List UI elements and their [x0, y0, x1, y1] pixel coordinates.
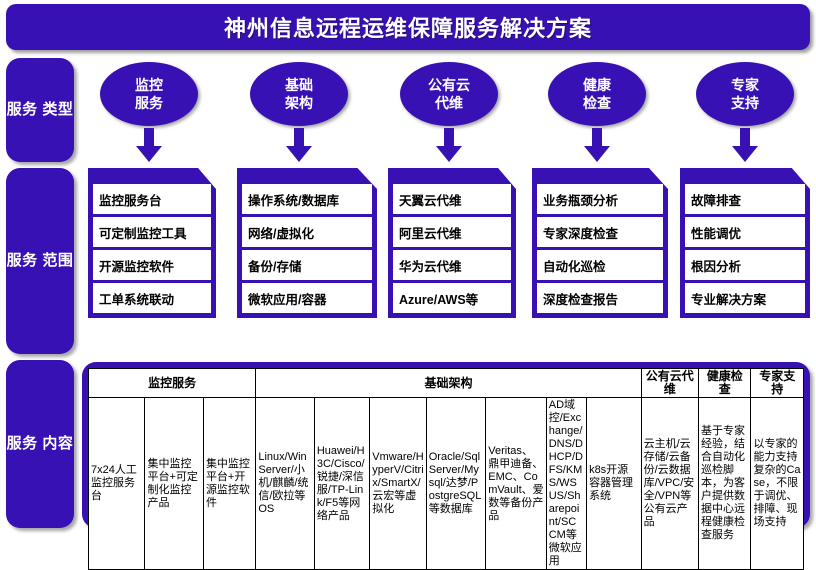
ellipse-line1: 健康 [583, 77, 611, 93]
table-group-header-row: 监控服务 基础架构 公有云代维 健康检查 专家支持 [89, 369, 804, 398]
group-header-expert-support: 专家支持 [751, 369, 804, 398]
group-header-public-cloud: 公有云代维 [641, 369, 698, 398]
table-cell: AD域控/Exchange/DNS/DHCP/DFS/KMS/WSUS/Shar… [546, 398, 586, 570]
table-cell: 集中监控平台+开源监控软件 [203, 398, 255, 570]
rail-service-content-label: 服务 内容 [7, 434, 74, 454]
group-header-monitoring: 监控服务 [89, 369, 256, 398]
service-content-panel: 监控服务 基础架构 公有云代维 健康检查 专家支持 7x24人工监控服务台 集中… [82, 362, 810, 528]
group-header-infrastructure: 基础架构 [256, 369, 641, 398]
table-cell: 以专家的能力支持复杂的Case，不限于调优、排障、现场支持 [751, 398, 804, 570]
scope-item[interactable]: 开源监控软件 [93, 250, 211, 280]
down-arrow-icon-infrastructure [286, 128, 312, 162]
table-cell: 云主机/云存储/云备份/云数据库/VPC/安全/VPN等公有云产品 [641, 398, 698, 570]
scope-card-health-check: 业务瓶颈分析 专家深度检查 自动化巡检 深度检查报告 [532, 168, 668, 318]
scope-item[interactable]: 阿里云代维 [393, 217, 511, 247]
ellipse-label-text: 监控 服务 [135, 76, 163, 112]
rail-service-scope: 服务 范围 [6, 168, 74, 354]
ellipse-line2: 服务 [135, 95, 163, 111]
scope-item[interactable]: 工单系统联动 [93, 283, 211, 313]
scope-item[interactable]: 根因分析 [685, 250, 805, 280]
rail-service-scope-label: 服务 范围 [7, 251, 74, 271]
scope-item[interactable]: 备份/存储 [242, 250, 372, 280]
scope-item[interactable]: 自动化巡检 [537, 250, 663, 280]
scope-card-public-cloud: 天翼云代维 阿里云代维 华为云代维 Azure/AWS等 [388, 168, 516, 318]
scope-item[interactable]: 性能调优 [685, 217, 805, 247]
category-ellipse-expert-support[interactable]: 专家 支持 [696, 62, 794, 126]
table-cell: 7x24人工监控服务台 [89, 398, 145, 570]
scope-item[interactable]: 网络/虚拟化 [242, 217, 372, 247]
scope-card-expert-support: 故障排查 性能调优 根因分析 专业解决方案 [680, 168, 810, 318]
down-arrow-icon-monitoring [136, 128, 162, 162]
ellipse-line2: 检查 [583, 95, 611, 111]
rail-service-type-label: 服务 类型 [7, 100, 74, 120]
scope-item[interactable]: Azure/AWS等 [393, 283, 511, 313]
scope-item[interactable]: 可定制监控工具 [93, 217, 211, 247]
table-cell: Huawei/H3C/Cisco/锐捷/深信服/TP-Link/F5等网络产品 [314, 398, 369, 570]
ellipse-label-text: 公有云 代维 [428, 76, 470, 112]
category-ellipse-health-check[interactable]: 健康 检查 [548, 62, 646, 126]
ellipse-label-text: 基础 架构 [285, 76, 313, 112]
down-arrow-icon-health-check [584, 128, 610, 162]
down-arrow-icon-public-cloud [436, 128, 462, 162]
scope-card-infrastructure: 操作系统/数据库 网络/虚拟化 备份/存储 微软应用/容器 [237, 168, 377, 318]
ellipse-line1: 公有云 [428, 77, 470, 93]
group-header-health-check: 健康检查 [699, 369, 751, 398]
ellipse-line2: 代维 [435, 95, 463, 111]
scope-item[interactable]: 微软应用/容器 [242, 283, 372, 313]
ellipse-label-text: 专家 支持 [731, 76, 759, 112]
table-cell: 集中监控平台+可定制化监控产品 [145, 398, 203, 570]
ellipse-line1: 基础 [285, 77, 313, 93]
rail-service-content: 服务 内容 [6, 360, 74, 528]
scope-card-monitoring: 监控服务台 可定制监控工具 开源监控软件 工单系统联动 [88, 168, 216, 318]
scope-item[interactable]: 监控服务台 [93, 184, 211, 214]
ellipse-line2: 支持 [731, 95, 759, 111]
scope-item[interactable]: 专家深度检查 [537, 217, 663, 247]
table-cell: Oracle/SqlServer/Mysql/达梦/PostgreSQL等数据库 [426, 398, 485, 570]
table-cell: 基于专家经验，结合自动化巡检脚本，为客户提供数据中心远程健康检查服务 [699, 398, 751, 570]
ellipse-label-text: 健康 检查 [583, 76, 611, 112]
service-content-table: 监控服务 基础架构 公有云代维 健康检查 专家支持 7x24人工监控服务台 集中… [88, 368, 804, 570]
rail-service-type: 服务 类型 [6, 58, 74, 162]
ellipse-line1: 监控 [135, 77, 163, 93]
category-ellipse-infrastructure[interactable]: 基础 架构 [250, 62, 348, 126]
table-cell: Veritas、鼎甲迪备、EMC、ComVault、爱数等备份产品 [486, 398, 547, 570]
table-cell: k8s开源容器管理系统 [587, 398, 642, 570]
scope-item[interactable]: 华为云代维 [393, 250, 511, 280]
table-cell: Vmware/HyperV/Citrix/SmartX/云宏等虚拟化 [370, 398, 426, 570]
ellipse-line2: 架构 [285, 95, 313, 111]
scope-item[interactable]: 故障排查 [685, 184, 805, 214]
page-title: 神州信息远程运维保障服务解决方案 [224, 11, 592, 43]
scope-item[interactable]: 专业解决方案 [685, 283, 805, 313]
scope-item[interactable]: 操作系统/数据库 [242, 184, 372, 214]
category-ellipse-monitoring[interactable]: 监控 服务 [100, 62, 198, 126]
scope-item[interactable]: 深度检查报告 [537, 283, 663, 313]
category-ellipse-public-cloud[interactable]: 公有云 代维 [400, 62, 498, 126]
table-row: 7x24人工监控服务台 集中监控平台+可定制化监控产品 集中监控平台+开源监控软… [89, 398, 804, 570]
down-arrow-icon-expert-support [732, 128, 758, 162]
page-title-banner: 神州信息远程运维保障服务解决方案 [6, 4, 810, 50]
table-cell: Linux/WinServer/小机/麒麟/统信/欧拉等OS [256, 398, 314, 570]
ellipse-line1: 专家 [731, 77, 759, 93]
scope-item[interactable]: 天翼云代维 [393, 184, 511, 214]
scope-item[interactable]: 业务瓶颈分析 [537, 184, 663, 214]
